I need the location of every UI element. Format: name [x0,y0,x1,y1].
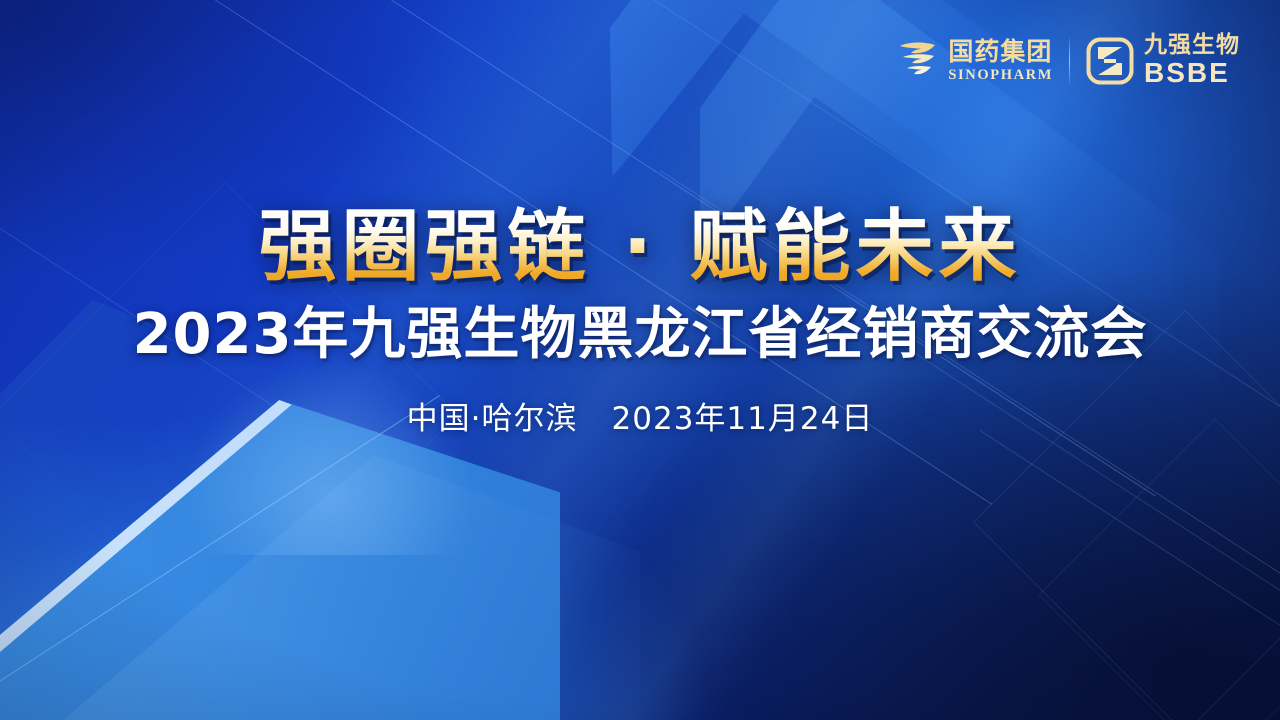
bsbe-logo[interactable]: 九强生物 BSBE [1086,34,1240,87]
bsbe-cn-name: 九强生物 [1144,34,1240,57]
sinopharm-en-name: SINOPHARM [948,68,1053,83]
sinopharm-wordmark: 国药集团 SINOPHARM [948,39,1053,83]
sinopharm-cn-name: 国药集团 [948,39,1053,64]
logo-divider [1069,38,1070,84]
event-banner: 国药集团 SINOPHARM 九强生物 BSBE 强圈强链 · 赋能未来 202… [0,0,1280,720]
event-date: 2023年11月24日 [612,401,874,437]
bsbe-wordmark: 九强生物 BSBE [1144,34,1240,87]
event-location: 中国·哈尔滨 [407,401,578,437]
event-headline: 强圈强链 · 赋能未来 [0,206,1280,289]
logo-bar: 国药集团 SINOPHARM 九强生物 BSBE [896,34,1240,87]
sinopharm-ribbon-mark [896,39,938,83]
bsbe-en-name: BSBE [1144,59,1240,87]
event-subheadline: 2023年九强生物黑龙江省经销商交流会 [0,305,1280,365]
bsbe-square-s-mark [1086,37,1134,85]
banner-content: 强圈强链 · 赋能未来 2023年九强生物黑龙江省经销商交流会 中国·哈尔滨20… [0,206,1280,438]
event-location-date: 中国·哈尔滨2023年11月24日 [0,393,1280,438]
sinopharm-logo[interactable]: 国药集团 SINOPHARM [896,39,1053,83]
